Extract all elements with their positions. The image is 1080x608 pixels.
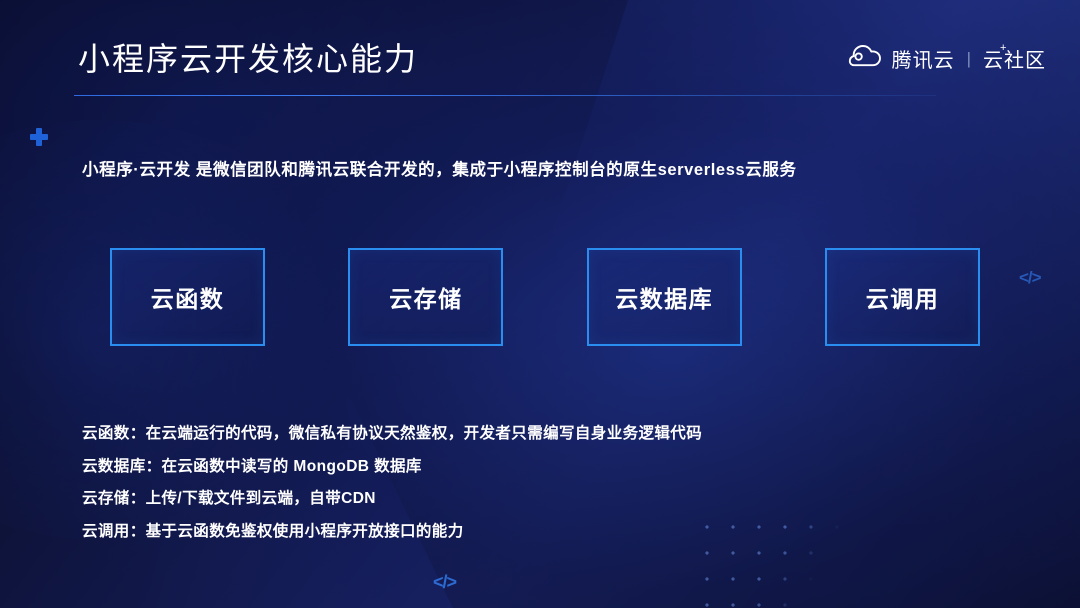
page-title: 小程序云开发核心能力 — [78, 34, 418, 80]
capability-card-label: 云数据库 — [615, 280, 713, 314]
brand-logo: 腾讯云 | 云社区 + — [848, 44, 1046, 73]
description-line: 云存储：上传/下载文件到云端，自带CDN — [82, 483, 702, 516]
slide-canvas: </> </> 小程序云开发核心能力 腾讯云 | 云社区 + 小程序·云开发 是… — [0, 0, 1080, 608]
brand-plus-superscript: + — [1000, 43, 1007, 54]
description-line: 云数据库：在云函数中读写的 MongoDB 数据库 — [82, 451, 702, 484]
capability-card-cloud-storage[interactable]: 云存储 — [348, 248, 503, 346]
description-line: 云调用：基于云函数免鉴权使用小程序开放接口的能力 — [82, 516, 702, 549]
capability-card-label: 云存储 — [389, 280, 463, 314]
title-divider — [74, 95, 936, 96]
brand-sub-label: 云社区 + — [983, 44, 1046, 73]
plus-icon — [30, 128, 48, 146]
code-bracket-icon-bottom: </> — [433, 572, 456, 593]
capability-descriptions: 云函数：在云端运行的代码，微信私有协议天然鉴权，开发者只需编写自身业务逻辑代码 … — [82, 418, 702, 548]
cloud-icon — [848, 44, 882, 73]
capability-card-label: 云调用 — [866, 280, 940, 314]
capability-cards: 云函数 云存储 云数据库 云调用 — [110, 248, 980, 346]
brand-name-label: 腾讯云 — [892, 44, 955, 73]
brand-sub-text: 云社区 — [983, 50, 1046, 72]
capability-card-cloud-function[interactable]: 云函数 — [110, 248, 265, 346]
capability-card-cloud-database[interactable]: 云数据库 — [587, 248, 742, 346]
capability-card-label: 云函数 — [151, 280, 225, 314]
description-line: 云函数：在云端运行的代码，微信私有协议天然鉴权，开发者只需编写自身业务逻辑代码 — [82, 418, 702, 451]
subtitle-text: 小程序·云开发 是微信团队和腾讯云联合开发的，集成于小程序控制台的原生serve… — [82, 156, 797, 180]
code-bracket-icon-right: </> — [1019, 268, 1041, 288]
brand-separator: | — [967, 49, 971, 69]
capability-card-cloud-invoke[interactable]: 云调用 — [825, 248, 980, 346]
dot-grid-decoration — [690, 508, 880, 608]
